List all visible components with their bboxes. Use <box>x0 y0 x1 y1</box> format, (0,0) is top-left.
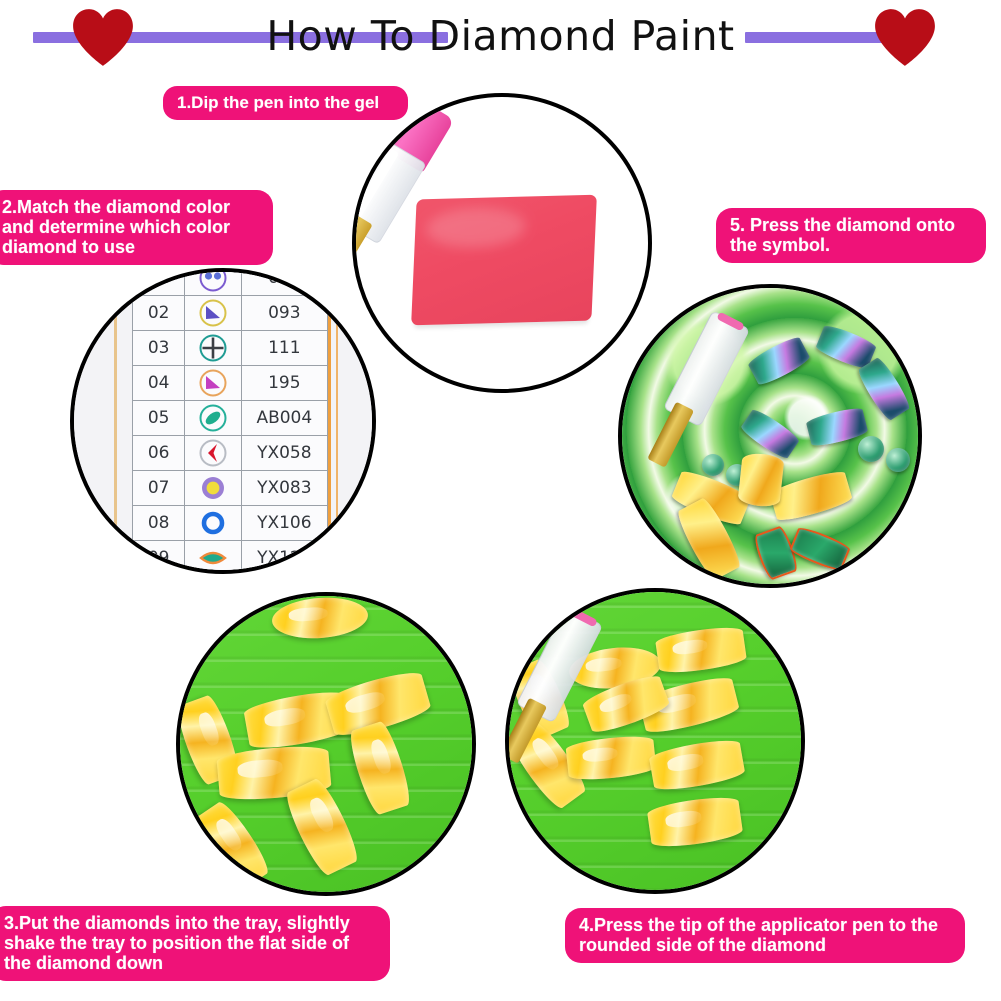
legend-code: 111 <box>241 331 327 366</box>
diamond-tray-illustration <box>180 596 472 892</box>
legend-number: 03 <box>133 331 185 366</box>
legend-symbol-triangle-icon <box>185 296 241 331</box>
legend-row: 01028 <box>133 268 328 296</box>
legend-chart-paper: 0102802093031110419505AB00406YX05807YX08… <box>74 272 372 570</box>
step-3-photo <box>176 592 476 896</box>
legend-number: 01 <box>133 268 185 296</box>
legend-number: 05 <box>133 401 185 436</box>
step-2-label: 2.Match the diamond color and determine … <box>0 190 273 265</box>
legend-code: YX125 <box>241 541 327 575</box>
legend-row: 04195 <box>133 366 328 401</box>
legend-code: 093 <box>241 296 327 331</box>
pen-tip <box>505 698 547 764</box>
color-legend-table: 0102802093031110419505AB00406YX05807YX08… <box>132 268 328 574</box>
legend-number: 08 <box>133 506 185 541</box>
legend-row: 07YX083 <box>133 471 328 506</box>
legend-symbol-chevron-left-icon <box>185 436 241 471</box>
diamond-yellow-target <box>737 452 784 508</box>
legend-row: 09YX125 <box>133 541 328 575</box>
legend-symbol-plus-icon <box>185 331 241 366</box>
legend-number: 09 <box>133 541 185 575</box>
legend-row: 06YX058 <box>133 436 328 471</box>
legend-symbol-slash-oval-icon <box>185 401 241 436</box>
legend-symbol-ring-icon <box>185 506 241 541</box>
step-3-label: 3.Put the diamonds into the tray, slight… <box>0 906 390 981</box>
legend-number: 04 <box>133 366 185 401</box>
pickup-diamond-illustration <box>509 592 801 890</box>
step-1-photo <box>352 93 652 393</box>
legend-number: 02 <box>133 296 185 331</box>
diamond-round <box>858 436 884 462</box>
legend-code: 028 <box>241 268 327 296</box>
legend-symbol-double-dot-circle-icon <box>185 268 241 296</box>
mandala-canvas-illustration <box>622 288 918 584</box>
step-1-label: 1.Dip the pen into the gel <box>163 86 408 120</box>
infographic-canvas: How To Diamond Paint 0102802093031110419… <box>0 0 1001 1001</box>
gel-dip-illustration <box>356 97 648 389</box>
page-title: How To Diamond Paint <box>0 12 1001 60</box>
legend-code: 195 <box>241 366 327 401</box>
diamond-round <box>702 454 724 476</box>
paper-edge-right-2 <box>336 272 338 570</box>
legend-symbol-filled-dot-icon <box>185 471 241 506</box>
paper-edge-right-1 <box>328 272 331 570</box>
legend-row: 03111 <box>133 331 328 366</box>
legend-code: YX083 <box>241 471 327 506</box>
step-4-label: 4.Press the tip of the applicator pen to… <box>565 908 965 963</box>
step-4-photo <box>505 588 805 894</box>
legend-code: AB004 <box>241 401 327 436</box>
legend-symbol-triangle-icon <box>185 366 241 401</box>
legend-row: 05AB004 <box>133 401 328 436</box>
legend-code: YX106 <box>241 506 327 541</box>
legend-number: 06 <box>133 436 185 471</box>
paper-edge-left <box>114 272 117 570</box>
step-5-label: 5. Press the diamond onto the symbol. <box>716 208 986 263</box>
legend-code: YX058 <box>241 436 327 471</box>
step-2-photo: 0102802093031110419505AB00406YX05807YX08… <box>70 268 376 574</box>
pen-tip <box>647 402 694 468</box>
diamond-round <box>886 448 910 472</box>
red-gel-pad <box>411 195 597 326</box>
legend-symbol-leaf-icon <box>185 541 241 575</box>
legend-row: 08YX106 <box>133 506 328 541</box>
legend-row: 02093 <box>133 296 328 331</box>
legend-number: 07 <box>133 471 185 506</box>
step-5-photo <box>618 284 922 588</box>
